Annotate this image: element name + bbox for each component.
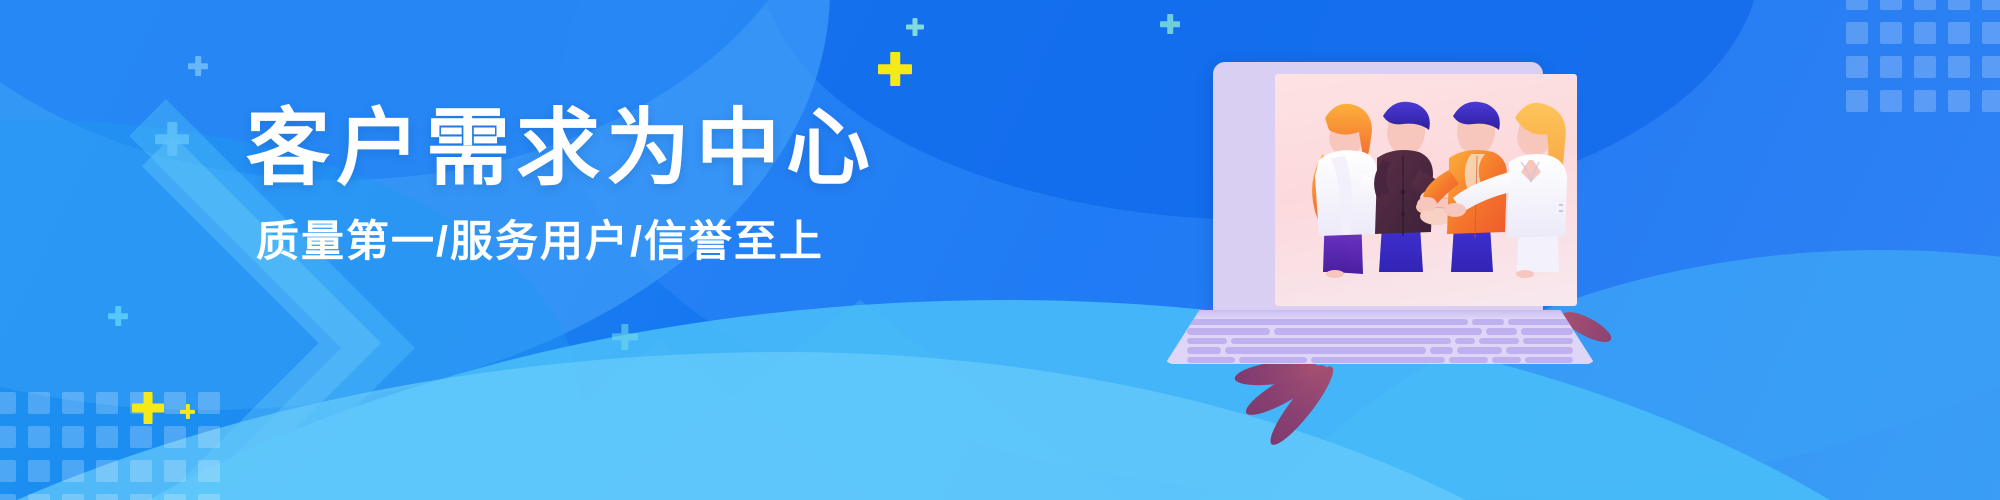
keyboard-row <box>1187 347 1573 353</box>
background-wave-bottom <box>0 300 2000 500</box>
laptop-teamwork-illustration <box>1165 62 1595 362</box>
keyboard-key <box>1506 347 1573 353</box>
cross-cyan-top-right-icon <box>1160 14 1180 34</box>
keyboard-key <box>1311 357 1446 363</box>
keyboard-key <box>1430 347 1452 353</box>
keyboard-row <box>1187 319 1573 325</box>
banner-headline: 客户需求为中心 <box>246 104 866 193</box>
cross-cyan-small-top-icon <box>906 18 924 36</box>
laptop-screen <box>1275 74 1577 306</box>
keyboard-key <box>1455 338 1475 344</box>
keyboard-key <box>1187 357 1235 363</box>
cross-yellow-large-top-icon <box>878 52 912 86</box>
teamwork-people-graphic <box>1275 74 1577 306</box>
dot-grid-top-right <box>1846 0 2000 112</box>
cross-yellow-small-left-icon <box>180 404 195 419</box>
promo-banner: 客户需求为中心 质量第一/服务用户/信誉至上 <box>0 0 2000 500</box>
banner-subheadline: 质量第一/服务用户/信誉至上 <box>256 219 866 266</box>
banner-text-block: 客户需求为中心 质量第一/服务用户/信誉至上 <box>246 104 866 266</box>
cross-cyan-small-left-icon <box>108 306 128 326</box>
keyboard-key <box>1492 357 1521 363</box>
laptop-base <box>1165 310 1595 364</box>
laptop-lid <box>1213 62 1543 314</box>
keyboard-row <box>1187 328 1573 334</box>
background-triangle-secondary <box>430 340 890 500</box>
keyboard-row <box>1187 357 1573 363</box>
cross-yellow-large-left-icon <box>132 392 164 424</box>
keyboard-key <box>1521 328 1573 334</box>
keyboard-key <box>1525 357 1573 363</box>
keyboard-key <box>1187 319 1468 325</box>
cross-cyan-bottom-mid-icon <box>612 324 638 350</box>
keyboard-key <box>1449 357 1488 363</box>
keyboard-key <box>1231 338 1451 344</box>
keyboard-key <box>1479 338 1519 344</box>
keyboard-key <box>1274 328 1482 334</box>
keyboard-key <box>1187 328 1270 334</box>
cross-white-top-left-icon <box>188 56 208 76</box>
keyboard-key <box>1508 319 1573 325</box>
keyboard-key <box>1472 319 1504 325</box>
keyboard-key <box>1187 347 1221 353</box>
background-triangle-primary <box>560 300 1160 500</box>
keyboard-key <box>1457 347 1502 353</box>
cross-white-mid-left-icon <box>155 122 189 156</box>
keyboard-row <box>1187 338 1573 344</box>
keyboard-key <box>1225 347 1427 353</box>
keyboard-key <box>1486 328 1517 334</box>
background-wave-bottom-light <box>0 352 1820 500</box>
keyboard-key <box>1523 338 1573 344</box>
laptop-keyboard <box>1187 319 1573 363</box>
keyboard-key <box>1239 357 1306 363</box>
keyboard-key <box>1187 338 1227 344</box>
